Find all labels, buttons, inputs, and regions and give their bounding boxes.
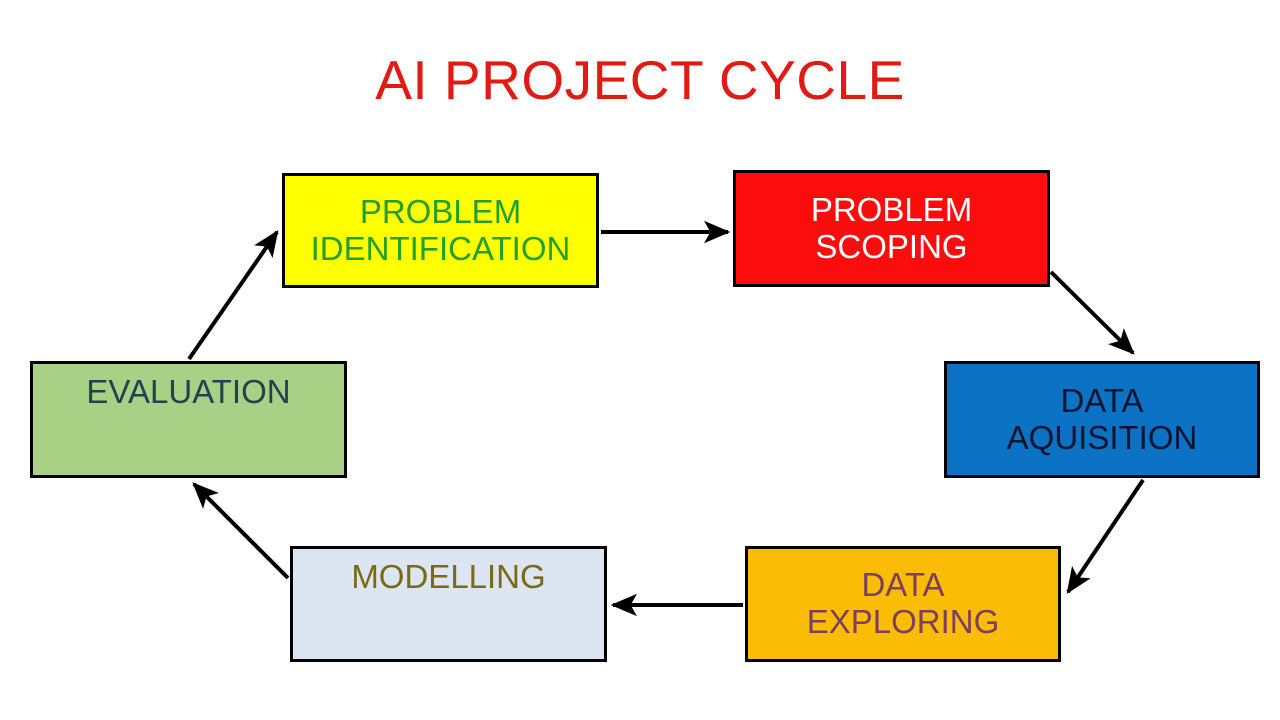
node-data-exploring[interactable]: DATA EXPLORING <box>745 546 1061 662</box>
arrow-aquisition-to-exploring <box>1068 480 1143 592</box>
node-label: MODELLING <box>299 559 598 596</box>
node-label: DATA EXPLORING <box>754 567 1052 641</box>
ai-project-cycle-diagram: AI PROJECT CYCLE PROBLEM IDENTIFICATION … <box>0 0 1280 720</box>
arrow-modelling-to-evaluation <box>194 484 288 578</box>
node-data-aquisition[interactable]: DATA AQUISITION <box>944 361 1260 478</box>
node-label: DATA AQUISITION <box>953 383 1251 457</box>
node-label: PROBLEM IDENTIFICATION <box>291 194 590 268</box>
page-title: AI PROJECT CYCLE <box>0 46 1280 114</box>
arrow-scoping-to-aquisition <box>1051 272 1133 353</box>
arrow-evaluation-to-identification <box>189 232 277 359</box>
node-label: EVALUATION <box>39 374 338 411</box>
node-problem-identification[interactable]: PROBLEM IDENTIFICATION <box>282 173 599 288</box>
node-problem-scoping[interactable]: PROBLEM SCOPING <box>733 170 1050 287</box>
node-evaluation[interactable]: EVALUATION <box>30 361 347 478</box>
node-label: PROBLEM SCOPING <box>742 192 1041 266</box>
node-modelling[interactable]: MODELLING <box>290 546 607 662</box>
